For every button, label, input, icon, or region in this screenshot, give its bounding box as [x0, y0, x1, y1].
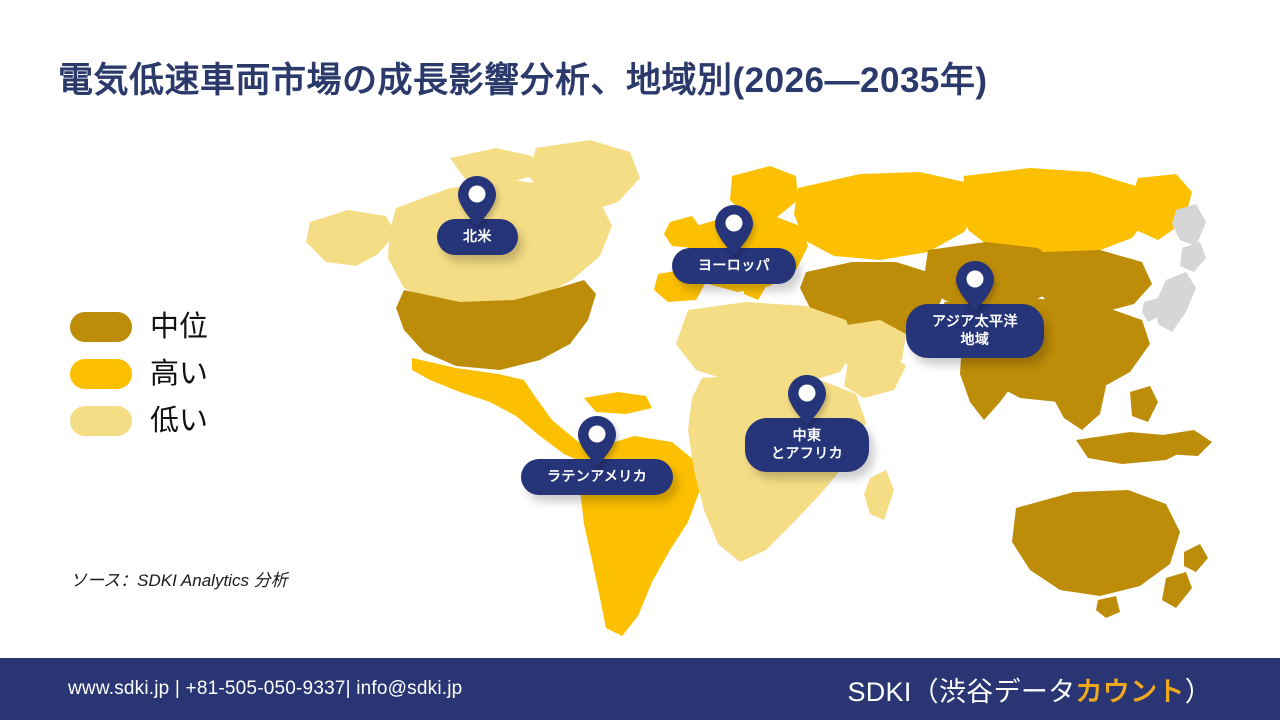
legend: 中位 高い 低い — [70, 312, 208, 436]
footer-bar: www.sdki.jp | +81-505-050-9337| info@sdk… — [0, 658, 1280, 720]
region-japan-north — [1180, 242, 1206, 272]
region-new-zealand-south — [1162, 572, 1192, 608]
region-tasmania — [1096, 596, 1120, 618]
location-pin-icon — [714, 203, 754, 262]
footer-logo-suffix: ） — [1185, 670, 1212, 709]
region-australia — [1012, 490, 1180, 596]
legend-item-high: 高い — [70, 359, 208, 389]
footer-contact-info[interactable]: www.sdki.jp | +81-505-050-9337| info@sdk… — [68, 678, 462, 700]
region-indochina — [1052, 372, 1106, 430]
map-marker-europe[interactable]: ヨーロッパ — [672, 203, 796, 284]
region-philippines — [1130, 386, 1158, 422]
region-alaska — [306, 210, 396, 266]
legend-swatch-low — [70, 406, 132, 436]
legend-item-medium: 中位 — [70, 312, 208, 342]
location-pin-icon — [955, 259, 995, 318]
region-madagascar — [864, 470, 894, 520]
legend-item-low: 低い — [70, 406, 208, 436]
region-papua-new-guinea — [1156, 430, 1212, 456]
legend-swatch-medium — [70, 312, 132, 342]
footer-logo: SDKI（渋谷データ カウント） — [847, 670, 1212, 709]
footer-logo-accent: カウント — [1075, 670, 1184, 709]
legend-swatch-high — [70, 359, 132, 389]
region-new-zealand — [1184, 544, 1208, 572]
location-pin-icon — [787, 373, 827, 432]
location-pin-icon — [577, 414, 617, 473]
footer-logo-prefix: SDKI（渋谷データ — [847, 670, 1075, 709]
region-caribbean — [584, 392, 652, 414]
map-marker-latin-america[interactable]: ラテンアメリカ — [521, 414, 673, 495]
region-kamchatka — [1172, 204, 1206, 246]
region-korea — [1142, 298, 1160, 322]
legend-label-low: 低い — [150, 407, 208, 436]
map-marker-north-america[interactable]: 北米 — [437, 174, 518, 255]
location-pin-icon — [457, 174, 497, 233]
legend-label-medium: 中位 — [150, 313, 208, 342]
page-title: 電気低速車両市場の成長影響分析、地域別(2026—2035年) — [58, 52, 988, 103]
source-note: ソース：SDKI Analytics 分析 — [70, 566, 288, 591]
legend-label-high: 高い — [150, 360, 208, 389]
map-marker-asia-pacific[interactable]: アジア太平洋 地域 — [906, 259, 1044, 358]
region-japan — [1156, 272, 1196, 332]
map-marker-middle-east-africa[interactable]: 中東 とアフリカ — [745, 373, 869, 472]
